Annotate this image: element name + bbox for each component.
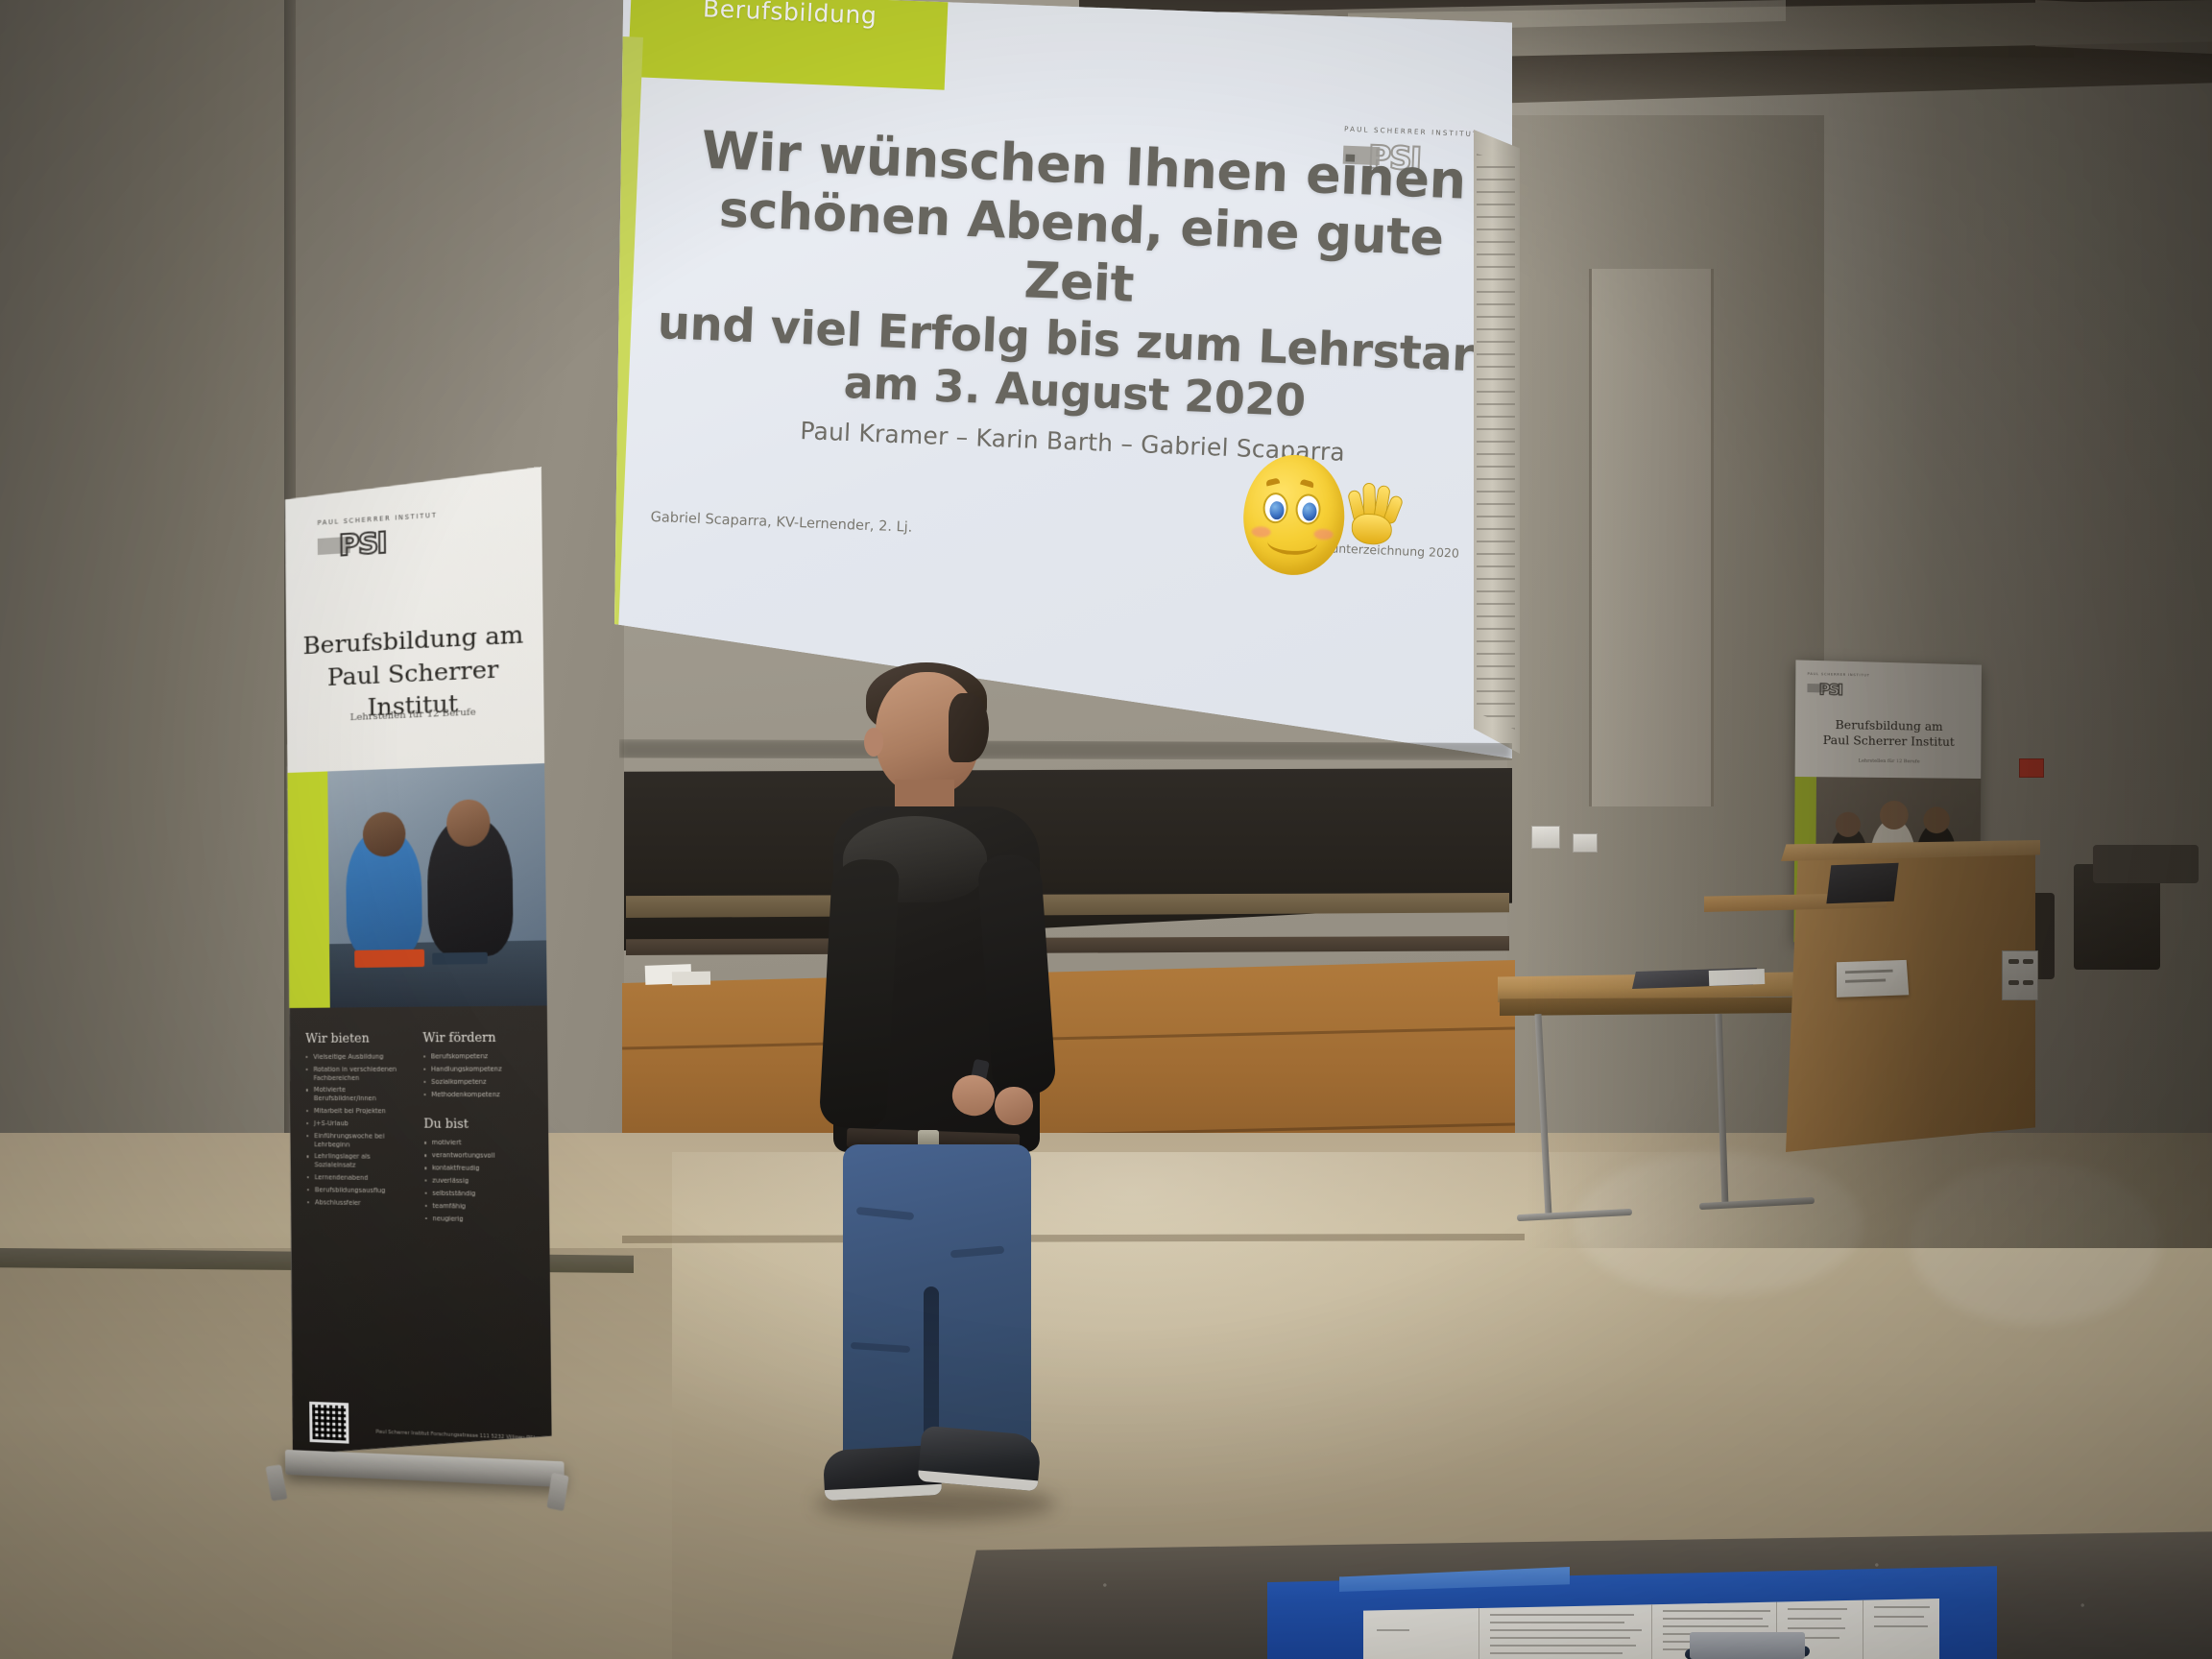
presenter-standing [806,672,1123,1440]
banner-photo-green-bar [286,771,330,1008]
name-card-text-line [1845,978,1886,982]
psi-logo-letters: PSI [339,526,386,563]
wooden-lectern [1786,845,2035,1152]
document-text-line [1663,1618,1763,1620]
banner-columns: Wir bieten Vielseitige Ausbildung Rotati… [305,1029,531,1228]
clipboard-clip [1690,1632,1805,1659]
left-wall-column [0,0,288,1277]
banner2-figure-head [1923,806,1950,833]
document-text-line [1490,1652,1623,1654]
qr-code-icon [309,1402,349,1444]
banner-list-item: kontaktfreudig [424,1164,531,1173]
lecture-hall-scene: Berufsbildung PAUL SCHERRER INSTITUT PSI… [0,0,2212,1659]
psi-logo-banner: PAUL SCHERRER INSTITUT PSI [318,513,424,570]
banner-list-wir-foerdern: Berufskompetenz Handlungskompetenz Sozia… [423,1052,530,1099]
presenter-hand-right [995,1087,1033,1125]
smiley-eyebrow-right [1300,479,1314,489]
laptop[interactable] [1826,863,1898,903]
name-card [1837,960,1909,998]
document-text-line [1788,1608,1847,1610]
banner-list-item: Lehrlingslager als Sozialeinsatz [306,1153,410,1170]
banner-column-right: Wir fördern Berufskompetenz Handlungskom… [422,1029,531,1228]
banner-list-item: Abschlussfeier [307,1198,411,1208]
banner-footer: Paul Scherrer Institut Forschungsstrasse… [309,1402,535,1452]
psi-logo-letters: PSI [1819,680,1842,699]
banner-photo-equipment [354,950,424,968]
banner-column-left: Wir bieten Vielseitige Ausbildung Rotati… [305,1030,411,1227]
wall-socket-right[interactable] [2002,950,2038,1000]
smiley-mouth [1267,529,1318,556]
document-text-line [1788,1618,1841,1620]
banner-list-item: motiviert [424,1139,531,1148]
presenter-shoe-right [918,1426,1043,1492]
name-card-text-line [1845,970,1893,974]
qr-code-pattern [312,1405,347,1441]
presenter-hair-side [949,693,989,762]
presenter-arm-left [819,857,901,1129]
banner-list-item: Lernendenabend [307,1173,411,1183]
document-text-line [1788,1627,1845,1629]
document-text-line [1874,1606,1930,1608]
document-text-line [1874,1616,1924,1618]
socket-slot [2023,980,2033,985]
document-text-line [1490,1622,1624,1623]
banner-list-item: Methodenkompetenz [423,1091,530,1099]
banner-heading-wir-bieten: Wir bieten [305,1030,409,1046]
presentation-slide: Berufsbildung PAUL SCHERRER INSTITUT PSI… [614,0,1512,758]
slide-content: Wir wünschen Ihnen einen schönen Abend, … [614,0,1512,758]
document-text-line [1663,1610,1770,1612]
paper-on-table [1709,969,1766,986]
slide-footer-left: Gabriel Scaparra, KV-Lernender, 2. Lj. [650,510,912,536]
psi-logo-mark: PSI [1807,680,1863,720]
banner-list-item: Berufsbildungsausflug [307,1186,411,1195]
psi-logo-banner2: PAUL SCHERRER INSTITUT PSI [1807,672,1863,720]
banner-list-du-bist: motiviert verantwortungsvoll kontaktfreu… [424,1139,532,1224]
psi-logo-kicker: PAUL SCHERRER INSTITUT [1808,672,1863,677]
smiley-pupil-right [1302,502,1317,521]
wall-socket[interactable] [1573,833,1598,853]
psi-rollup-banner-left: PAUL SCHERRER INSTITUT PSI Berufsbildung… [282,467,557,1526]
banner-photo-equipment [432,952,488,965]
banner-address: Paul Scherrer Institut Forschungsstrasse… [349,1429,535,1452]
psi-logo-mark: PSI [318,524,424,569]
smiley-face [1241,453,1347,577]
floor-reflection [1911,1162,2160,1325]
smiley-palm [1351,513,1392,545]
waving-smiley-emoji [1240,453,1399,593]
banner-list-item: zuverlässig [424,1177,531,1187]
socket-slot [2023,959,2033,964]
wall-socket[interactable] [1531,826,1560,849]
banner-heading-du-bist: Du bist [423,1117,530,1132]
banner-photo [286,763,547,1008]
banner2-title: Berufsbildung am Paul Scherrer Institut [1795,716,1982,751]
smiley-eye-right [1295,493,1321,525]
banner-info-section: Wir bieten Vielseitige Ausbildung Rotati… [288,1005,552,1465]
banner-list-item: Sozialkompetenz [423,1077,530,1086]
banner-heading-wir-foerdern: Wir fördern [422,1029,529,1045]
smiley-pupil-left [1269,501,1285,520]
banner-list-wir-bieten: Vielseitige Ausbildung Rotation in versc… [305,1052,411,1208]
projection-screen: Berufsbildung PAUL SCHERRER INSTITUT PSI… [614,0,1512,758]
document-text-line [1874,1625,1928,1627]
document-column-divider [1651,1599,1652,1659]
banner-list-item: Rotation in verschiedenen Fachbereichen [306,1066,410,1083]
banner-list-item: selbstständig [424,1190,531,1199]
banner-list-item: Motivierte Berufsbildner/innen [306,1086,410,1103]
banner2-figure-head [1836,812,1861,837]
document-column-divider [1863,1599,1863,1659]
socket-slot [2008,959,2019,964]
slide-title: Wir wünschen Ihnen einen schönen Abend, … [652,118,1507,435]
banner-face: PAUL SCHERRER INSTITUT PSI Berufsbildung… [282,467,551,1466]
document-text-line [1490,1637,1630,1639]
banner-list-item: Einführungswoche bei Lehrbeginn [306,1132,410,1149]
smiley-eye-left [1262,493,1288,524]
banner-list-item: Handlungskompetenz [423,1065,530,1073]
document-text-line [1490,1645,1636,1647]
smiley-waving-hand [1343,480,1400,545]
exit-sign [2019,758,2044,778]
banner-list-item: Berufskompetenz [423,1052,530,1061]
banner-list-item: teamfähig [424,1202,531,1212]
banner-list-item: J+S-Urlaub [306,1119,410,1128]
document-text-line [1377,1629,1409,1631]
floor-reflection [1575,1152,1863,1296]
screen-housing-slats [1477,154,1515,730]
banner-list-item: Mitarbeit bei Projekten [306,1107,410,1116]
door-frame [1589,269,1714,806]
socket-slot [2008,980,2019,985]
document-text-line [1663,1625,1768,1627]
banner-list-item: verantwortungsvoll [424,1151,531,1161]
banner-base [285,1450,565,1487]
banner-list-item: neugierig [424,1214,531,1225]
banner2-figure-head [1880,801,1909,829]
slide-canvas: Berufsbildung PAUL SCHERRER INSTITUT PSI… [614,0,1512,758]
paper-on-ledge [672,972,710,986]
banner2-title-line-2: Paul Scherrer Institut [1795,733,1982,751]
presenter-ear [864,728,883,757]
chair-back [2093,845,2199,883]
banner-list-item: Vielseitige Ausbildung [305,1052,409,1061]
smiley-eyebrow-left [1265,477,1280,486]
document-text-line [1490,1614,1634,1616]
document-text-line [1490,1629,1642,1631]
